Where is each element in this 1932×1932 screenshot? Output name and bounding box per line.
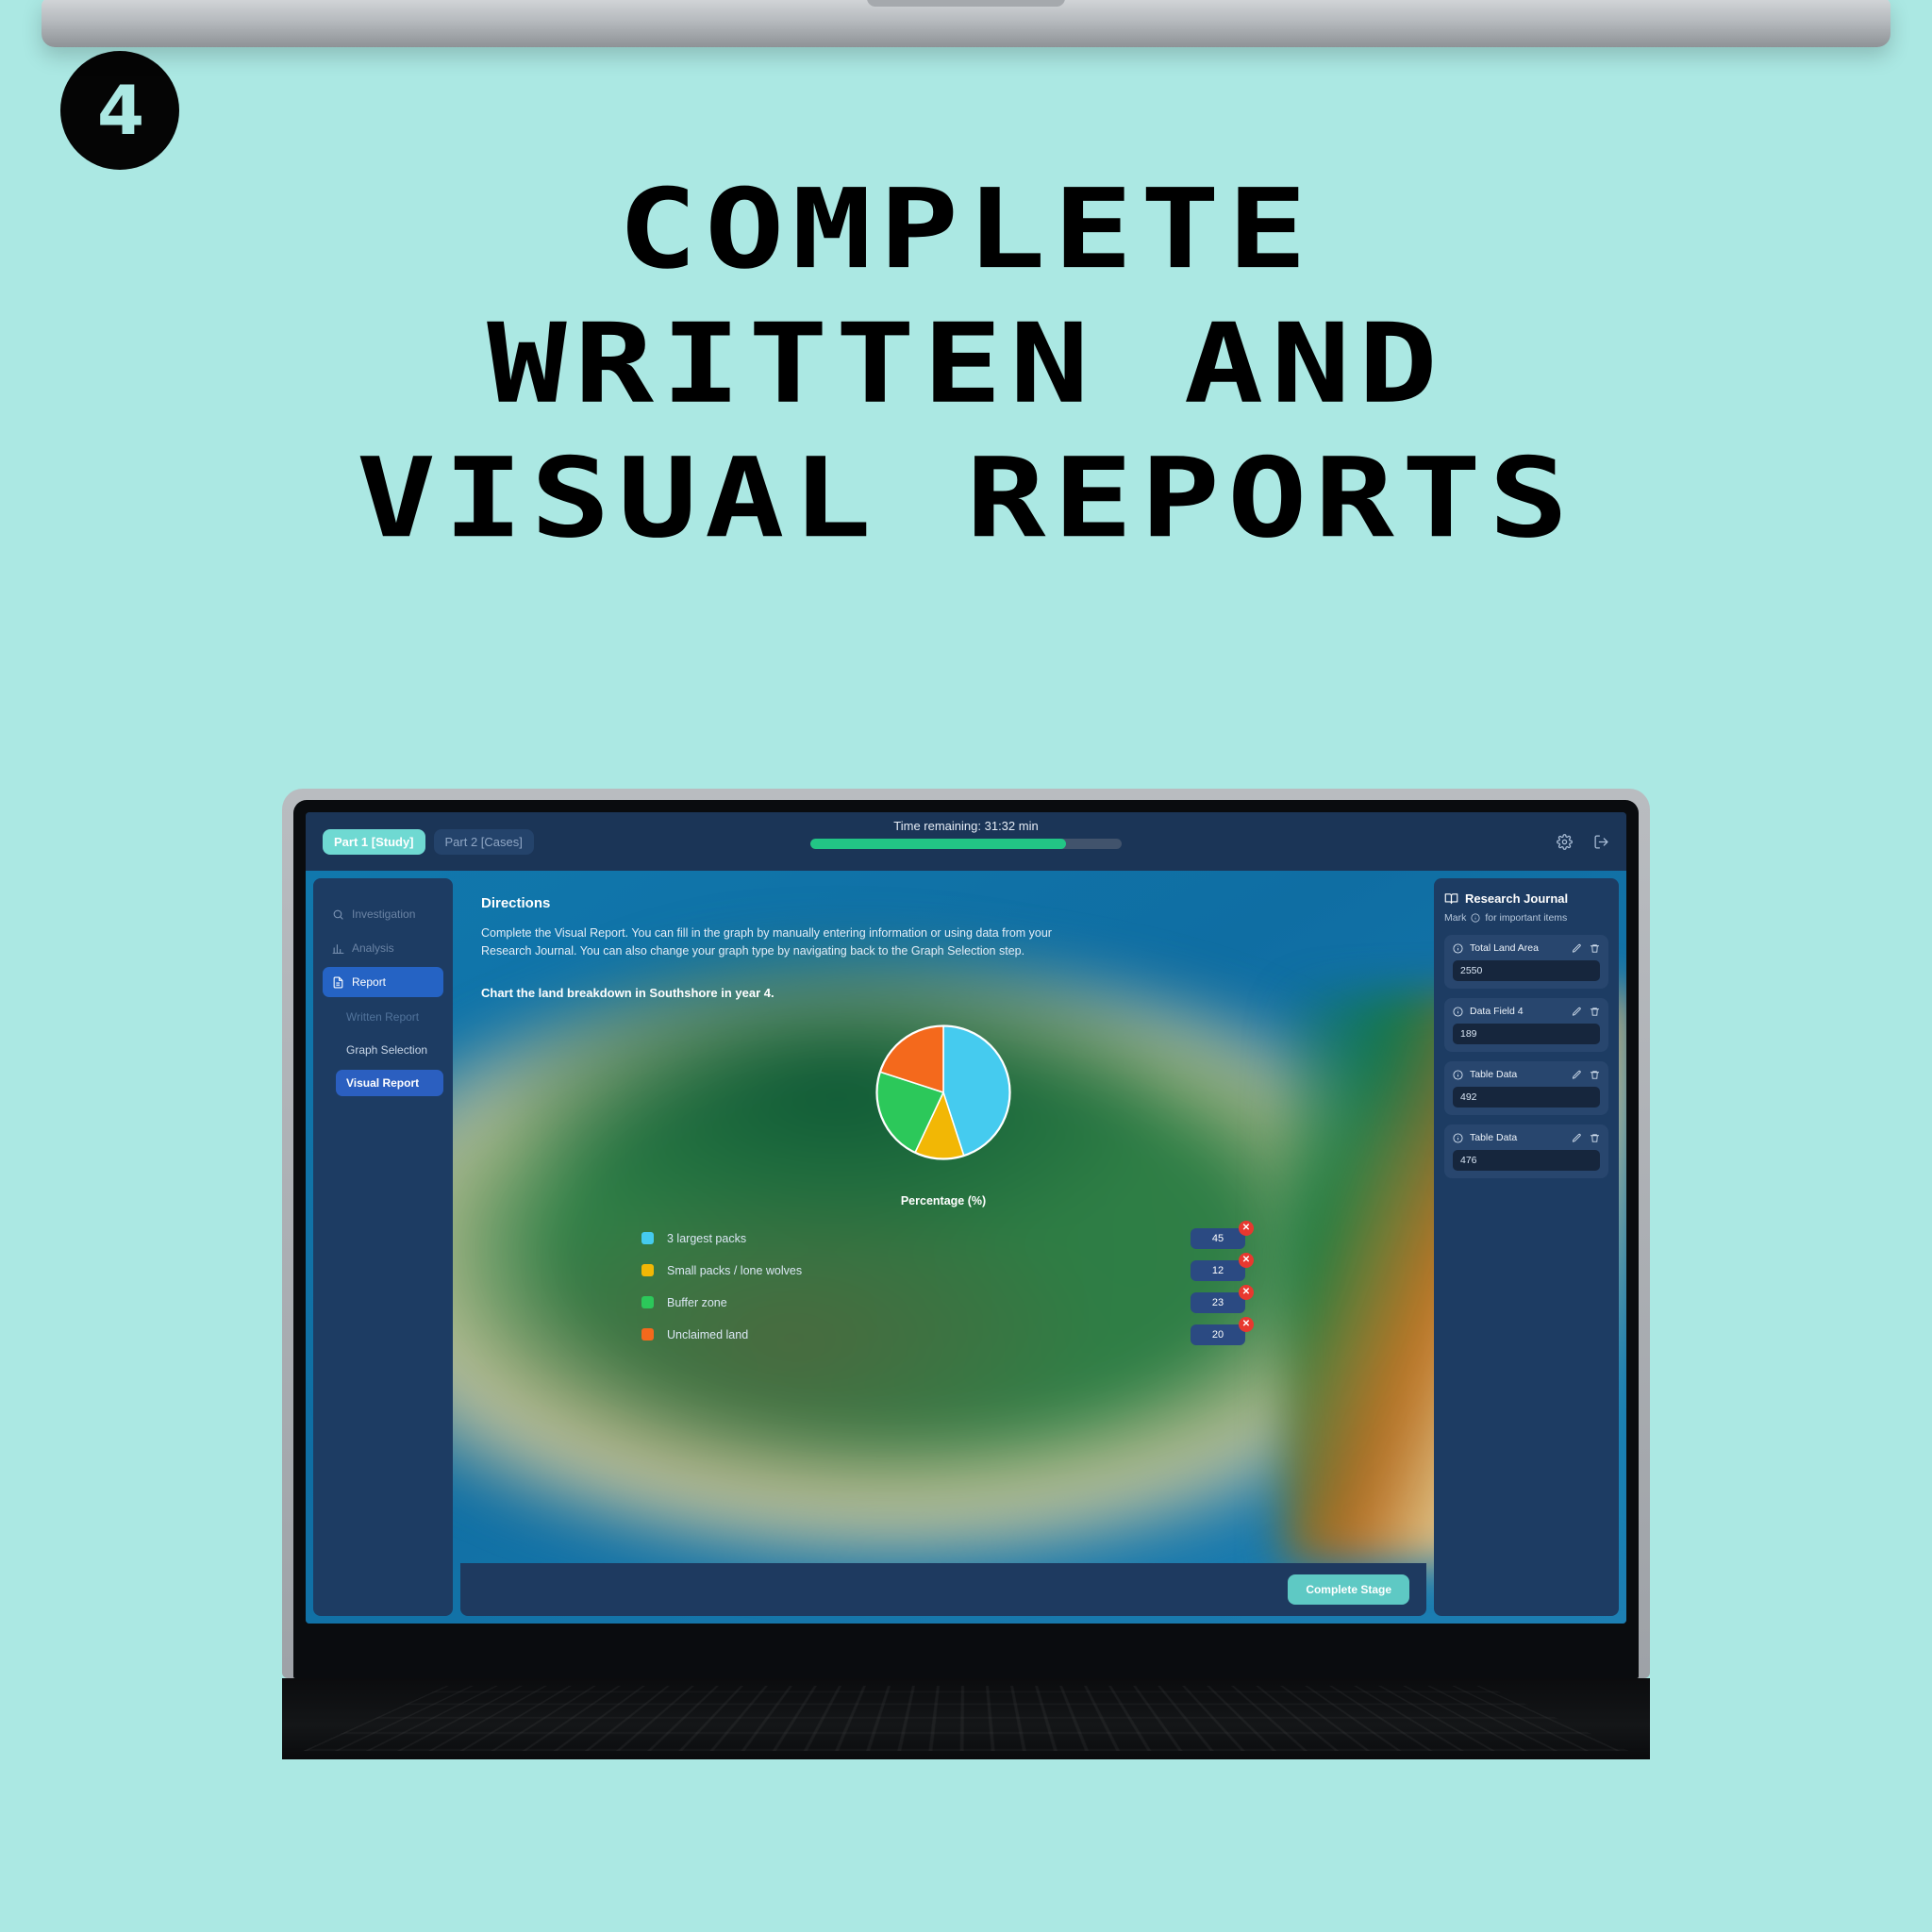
legend-row: Unclaimed land 20 ✕ [641,1319,1245,1351]
legend-label: Small packs / lone wolves [667,1264,802,1277]
edit-icon[interactable] [1572,1007,1582,1017]
info-icon[interactable] [1453,1070,1463,1080]
journal-entry: Table Data 476 [1444,1124,1608,1178]
journal-entry: Data Field 4 189 [1444,998,1608,1052]
legend-value: 45 [1212,1233,1224,1244]
directions-title: Directions [481,895,1406,911]
legend-value: 20 [1212,1329,1224,1341]
timer-progress-track [810,839,1122,849]
legend-value-input[interactable]: 12 ✕ [1191,1260,1245,1281]
sidebar-item-label: Analysis [352,941,394,955]
journal-entry-title: Table Data [1470,1069,1565,1080]
timer-progress-fill [810,839,1066,849]
step-number-badge: 4 [60,51,179,170]
book-icon [1444,891,1458,906]
journal-header: Research Journal [1444,891,1608,906]
legend-row: 3 largest packs 45 ✕ [641,1223,1245,1255]
legend-value-input[interactable]: 20 ✕ [1191,1324,1245,1345]
legend-label: 3 largest packs [667,1232,746,1245]
sidebar-item-label: Report [352,975,386,989]
logout-icon[interactable] [1593,834,1609,850]
legend-value: 12 [1212,1265,1224,1276]
headline-line-2: WRITTEN AND [0,297,1932,431]
journal-entry-value[interactable]: 492 [1453,1087,1600,1108]
trash-icon[interactable] [1590,1133,1600,1143]
app-screen: Part 1 [Study] Part 2 [Cases] Time remai… [306,812,1626,1624]
sidebar: Investigation Analysis [313,878,453,1616]
tab-part-1[interactable]: Part 1 [Study] [323,829,425,855]
bar-chart-icon [332,942,344,955]
close-icon[interactable]: ✕ [1239,1253,1254,1268]
trash-icon[interactable] [1590,943,1600,954]
journal-entry-value[interactable]: 476 [1453,1150,1600,1171]
main-content: Directions Complete the Visual Report. Y… [460,878,1426,1563]
journal-entry-title: Data Field 4 [1470,1006,1565,1017]
journal-entry-title: Total Land Area [1470,942,1565,954]
timer-label: Time remaining: 31:32 min [810,819,1122,833]
search-icon [332,908,344,921]
complete-stage-button[interactable]: Complete Stage [1288,1574,1409,1605]
directions-body: Complete the Visual Report. You can fill… [481,924,1085,961]
laptop-mockup: Part 1 [Study] Part 2 [Cases] Time remai… [273,789,1659,1759]
pie-chart[interactable] [862,1011,1024,1174]
gear-icon[interactable] [1557,834,1573,850]
journal-subtitle-after: for important items [1485,912,1567,924]
legend-value-input[interactable]: 45 ✕ [1191,1228,1245,1249]
topbar-actions [1557,834,1609,850]
sidebar-subitem-written-report[interactable]: Written Report [336,1004,443,1030]
info-icon[interactable] [1453,1133,1463,1143]
chart-axis-label: Percentage (%) [901,1194,986,1207]
document-icon [332,976,344,989]
chart-legend: 3 largest packs 45 ✕ Small packs [641,1223,1245,1351]
close-icon[interactable]: ✕ [1239,1221,1254,1236]
laptop-base [42,0,1890,47]
sidebar-item-report[interactable]: Report [323,967,443,997]
sidebar-item-label: Investigation [352,908,415,921]
edit-icon[interactable] [1572,943,1582,954]
research-journal-panel: Research Journal Mark for important item… [1434,878,1619,1616]
edit-icon[interactable] [1572,1133,1582,1143]
legend-swatch [641,1264,654,1276]
part-tabs: Part 1 [Study] Part 2 [Cases] [323,829,534,855]
journal-entry-value[interactable]: 2550 [1453,960,1600,981]
close-icon[interactable]: ✕ [1239,1317,1254,1332]
slide-headline: COMPLETE WRITTEN AND VISUAL REPORTS [0,163,1932,566]
laptop-bezel: Part 1 [Study] Part 2 [Cases] Time remai… [293,800,1639,1678]
app-body: Investigation Analysis [306,871,1626,1624]
legend-value-input[interactable]: 23 ✕ [1191,1292,1245,1313]
info-icon[interactable] [1453,1007,1463,1017]
pie-chart-svg [862,1011,1024,1174]
trash-icon[interactable] [1590,1070,1600,1080]
headline-line-1: COMPLETE [0,163,1932,297]
chart-prompt: Chart the land breakdown in Southshore i… [481,986,1406,1000]
journal-subtitle-before: Mark [1444,912,1466,924]
sidebar-item-investigation[interactable]: Investigation [323,899,443,929]
legend-swatch [641,1232,654,1244]
main-footer: Complete Stage [460,1563,1426,1616]
sidebar-subitem-visual-report[interactable]: Visual Report [336,1070,443,1096]
legend-swatch [641,1296,654,1308]
legend-row: Small packs / lone wolves 12 ✕ [641,1255,1245,1287]
main-panel: Directions Complete the Visual Report. Y… [460,878,1426,1616]
legend-label: Unclaimed land [667,1328,748,1341]
close-icon[interactable]: ✕ [1239,1285,1254,1300]
headline-line-3: VISUAL REPORTS [0,432,1932,566]
edit-icon[interactable] [1572,1070,1582,1080]
app-topbar: Part 1 [Study] Part 2 [Cases] Time remai… [306,812,1626,871]
timer: Time remaining: 31:32 min [810,819,1122,849]
info-icon[interactable] [1453,943,1463,954]
sidebar-item-analysis[interactable]: Analysis [323,933,443,963]
laptop-lid: Part 1 [Study] Part 2 [Cases] Time remai… [282,789,1650,1678]
journal-subtitle: Mark for important items [1444,912,1608,924]
legend-swatch [641,1328,654,1341]
legend-value: 23 [1212,1297,1224,1308]
laptop-keyboard [282,1678,1650,1759]
journal-entry-title: Table Data [1470,1132,1565,1143]
trash-icon[interactable] [1590,1007,1600,1017]
journal-entry-value[interactable]: 189 [1453,1024,1600,1044]
info-icon [1471,913,1480,923]
sidebar-subitem-graph-selection[interactable]: Graph Selection [336,1037,443,1063]
chart-area: Percentage (%) [481,1011,1406,1207]
legend-label: Buffer zone [667,1296,727,1309]
legend-row: Buffer zone 23 ✕ [641,1287,1245,1319]
step-number: 4 [97,71,142,150]
journal-entry: Table Data 492 [1444,1061,1608,1115]
tab-part-2[interactable]: Part 2 [Cases] [434,829,534,855]
journal-entry: Total Land Area 255 [1444,935,1608,989]
journal-title: Research Journal [1465,891,1568,906]
